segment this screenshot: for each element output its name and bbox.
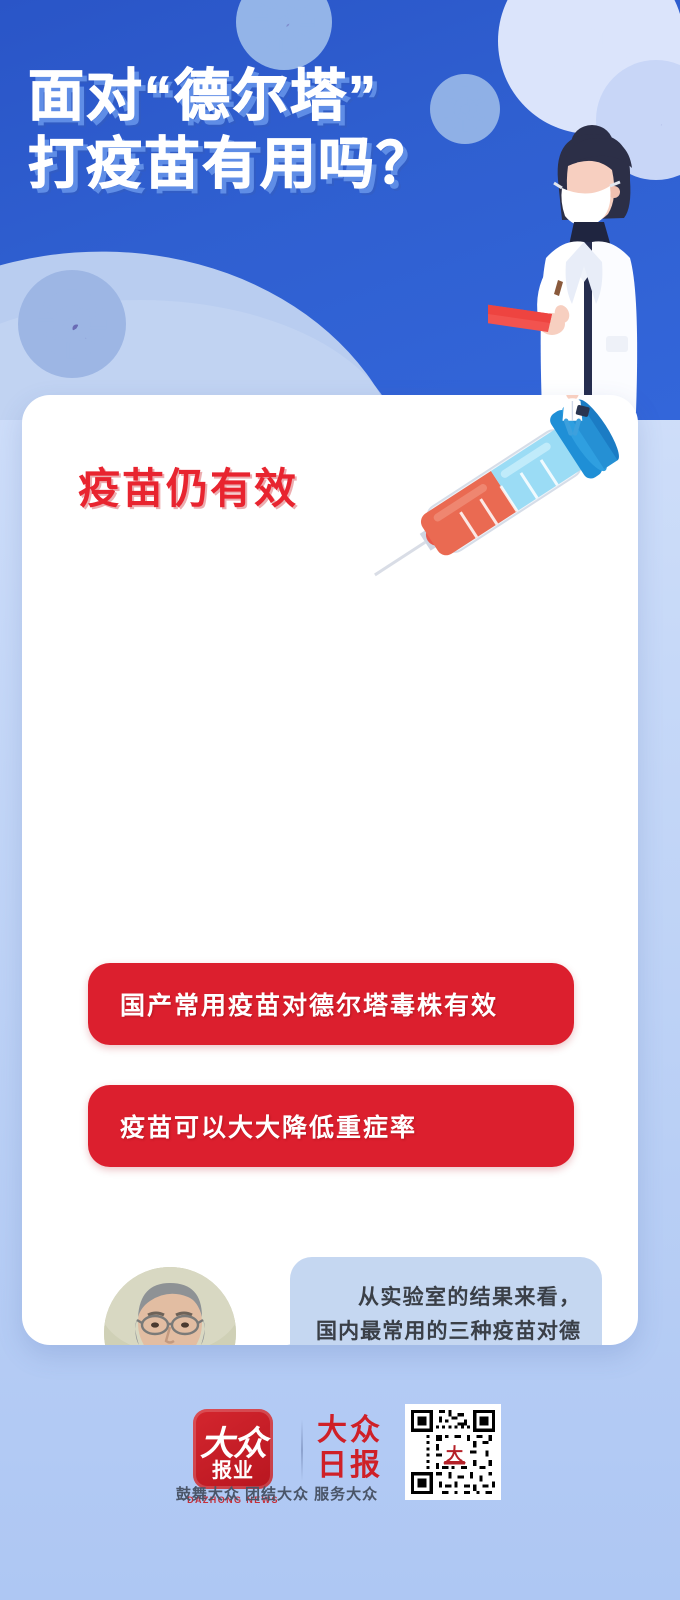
footer-tagline: 鼓舞大众 团结大众 服务大众 xyxy=(152,1483,402,1504)
footer-branding: 大众 报业 DAZHONG NEWS 大众 日报 xyxy=(0,1382,680,1532)
syringe-icon xyxy=(344,395,638,609)
key-point-2[interactable]: 疫苗可以大大降低重症率 xyxy=(88,1085,574,1167)
quote-bubble-tail xyxy=(244,1343,296,1345)
qr-code[interactable]: 大 xyxy=(405,1404,501,1500)
expert-portrait-avatar xyxy=(104,1267,236,1345)
key-point-2-label: 疫苗可以大大降低重症率 xyxy=(88,1108,417,1144)
key-point-1-label: 国产常用疫苗对德尔塔毒株有效 xyxy=(88,986,498,1022)
publisher-logo-small-text: 报业 xyxy=(193,1454,273,1483)
paper-name-line-1: 大众 xyxy=(317,1416,383,1447)
key-point-1[interactable]: 国产常用疫苗对德尔塔毒株有效 xyxy=(88,963,574,1045)
publisher-logo-mark: 大众 报业 xyxy=(193,1409,273,1489)
header-title-line-1: 面对“德尔塔” xyxy=(28,62,548,130)
content-card: 疫苗仍有效 国产常用疫苗对德尔塔毒株有效 疫苗可以大大降低重症率 xyxy=(22,395,638,1345)
header-banner: 面对“德尔塔” 打疫苗有用吗？ xyxy=(0,0,680,420)
svg-text:大: 大 xyxy=(446,1444,463,1464)
card-heading: 疫苗仍有效 xyxy=(78,455,298,516)
header-title-line-2: 打疫苗有用吗？ xyxy=(28,130,548,198)
paper-name-line-2: 日报 xyxy=(317,1451,383,1482)
expert-profile: 钟南山 中国工程院院士 xyxy=(90,1267,250,1345)
expert-quote-bubble: 从实验室的结果来看，国内最常用的三种疫苗对德尔塔毒株是有防护作用的。“德尔塔”重… xyxy=(290,1257,602,1345)
virus-particle-icon xyxy=(18,270,126,378)
expert-quote-text: 从实验室的结果来看，国内最常用的三种疫苗对德尔塔毒株是有防护作用的。“德尔塔”重… xyxy=(316,1281,580,1345)
header-title: 面对“德尔塔” 打疫苗有用吗？ xyxy=(28,62,548,199)
footer-divider xyxy=(301,1419,303,1481)
